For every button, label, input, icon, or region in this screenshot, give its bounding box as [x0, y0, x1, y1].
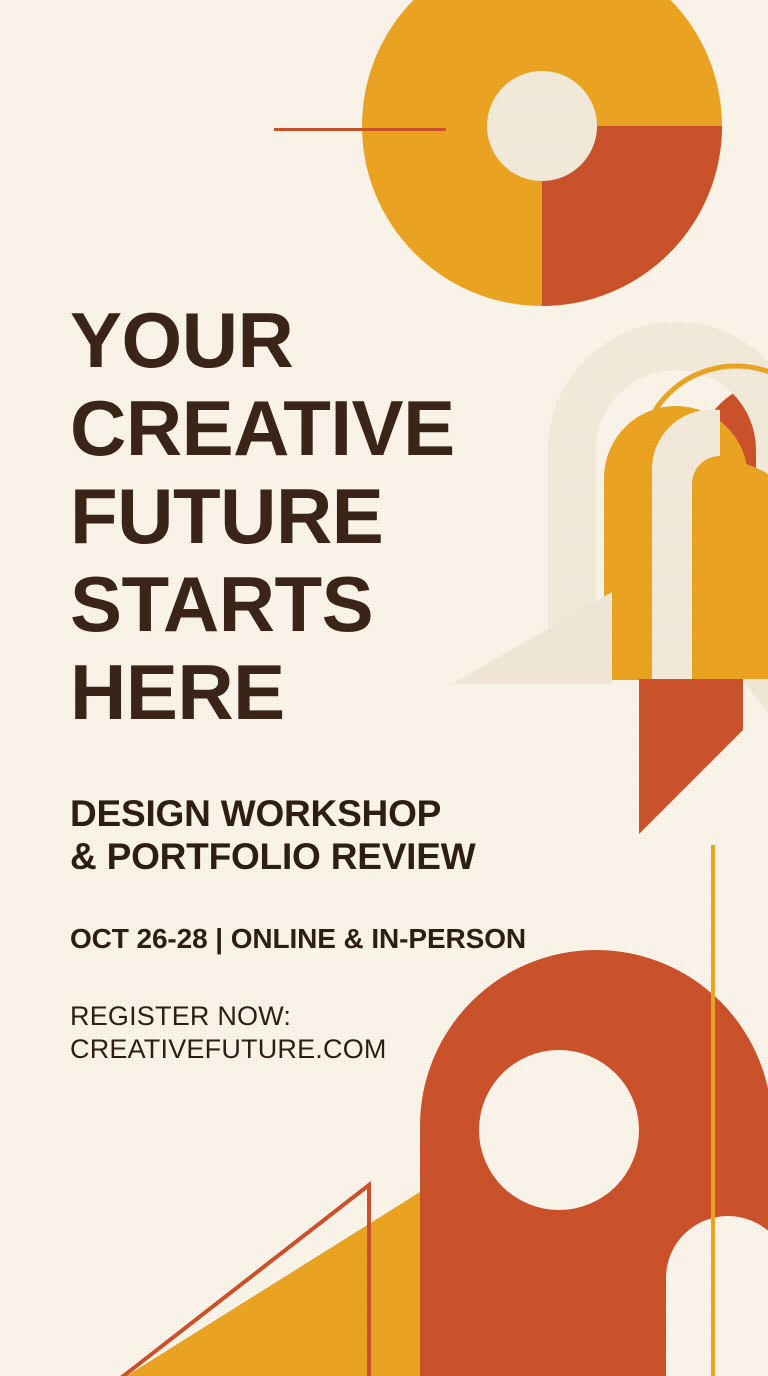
headline-line-4: STARTS: [70, 560, 526, 648]
headline-line-3: FUTURE: [70, 472, 526, 560]
register-block: REGISTER NOW: CREATIVEFUTURE.COM: [70, 1000, 526, 1066]
bottom-orange-triangle-outline: [100, 1140, 440, 1376]
subtitle: DESIGN WORKSHOP & PORTFOLIO REVIEW: [70, 792, 526, 878]
poster-canvas: YOUR CREATIVE FUTURE STARTS HERE DESIGN …: [0, 0, 768, 1376]
register-url[interactable]: CREATIVEFUTURE.COM: [70, 1033, 526, 1066]
register-label: REGISTER NOW:: [70, 1000, 526, 1033]
headline: YOUR CREATIVE FUTURE STARTS HERE: [70, 296, 526, 736]
headline-line-2: CREATIVE: [70, 384, 526, 472]
orange-pointer-shape: [639, 679, 743, 834]
right-rule-yellow: [711, 845, 715, 1376]
headline-line-1: YOUR: [70, 296, 526, 384]
top-rule-orange: [274, 128, 446, 131]
top-disc-graphic: [362, 0, 722, 306]
event-dateline: OCT 26-28 | ONLINE & IN-PERSON: [70, 922, 526, 956]
subtitle-line-1: DESIGN WORKSHOP: [70, 792, 526, 835]
orange-triangle-outline-shape: [108, 1185, 369, 1376]
poster-text-block: YOUR CREATIVE FUTURE STARTS HERE DESIGN …: [70, 296, 526, 1066]
mid-arch-yellow-right: [720, 460, 768, 680]
mid-orange-pointer: [639, 679, 768, 839]
subtitle-line-2: & PORTFOLIO REVIEW: [70, 835, 526, 878]
disc-center-hole: [487, 71, 597, 181]
headline-line-5: HERE: [70, 648, 526, 736]
